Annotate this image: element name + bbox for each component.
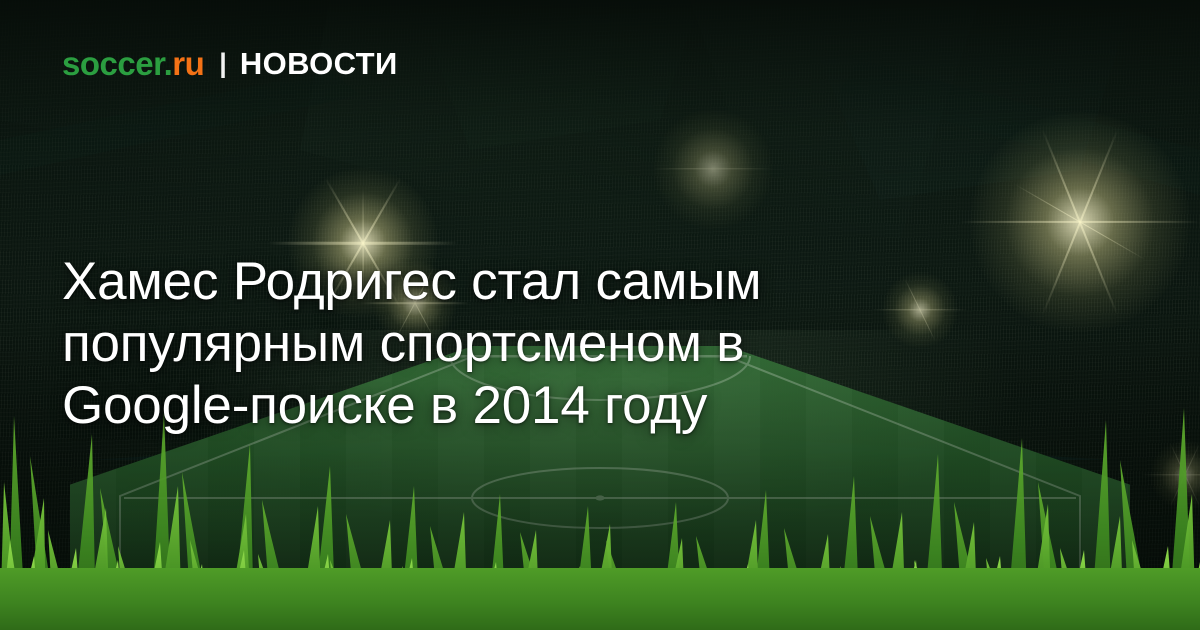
page-title: Хамес Родригес стал самым популярным спо… (62, 251, 942, 437)
headline-line-1: Хамес Родригес стал самым (62, 251, 942, 313)
headline-line-2: популярным спортсменом в (62, 313, 942, 375)
logo-text-ru: ru (172, 45, 204, 82)
section-label-novosti: НОВОСТИ (240, 48, 398, 79)
headline-line-3: Google-поиске в 2014 году (62, 375, 942, 437)
floodlight-flare-center (648, 104, 778, 234)
logo-dot: . (164, 45, 173, 82)
grass-base (0, 568, 1200, 630)
logo-text-soccer: soccer (62, 45, 164, 82)
site-header: soccer.ru | НОВОСТИ (62, 47, 398, 80)
soccer-ru-logo[interactable]: soccer.ru (62, 47, 204, 80)
header-separator: | (219, 50, 227, 77)
floodlight-flare-right (950, 92, 1200, 352)
share-card: soccer.ru | НОВОСТИ Хамес Родригес стал … (0, 0, 1200, 630)
